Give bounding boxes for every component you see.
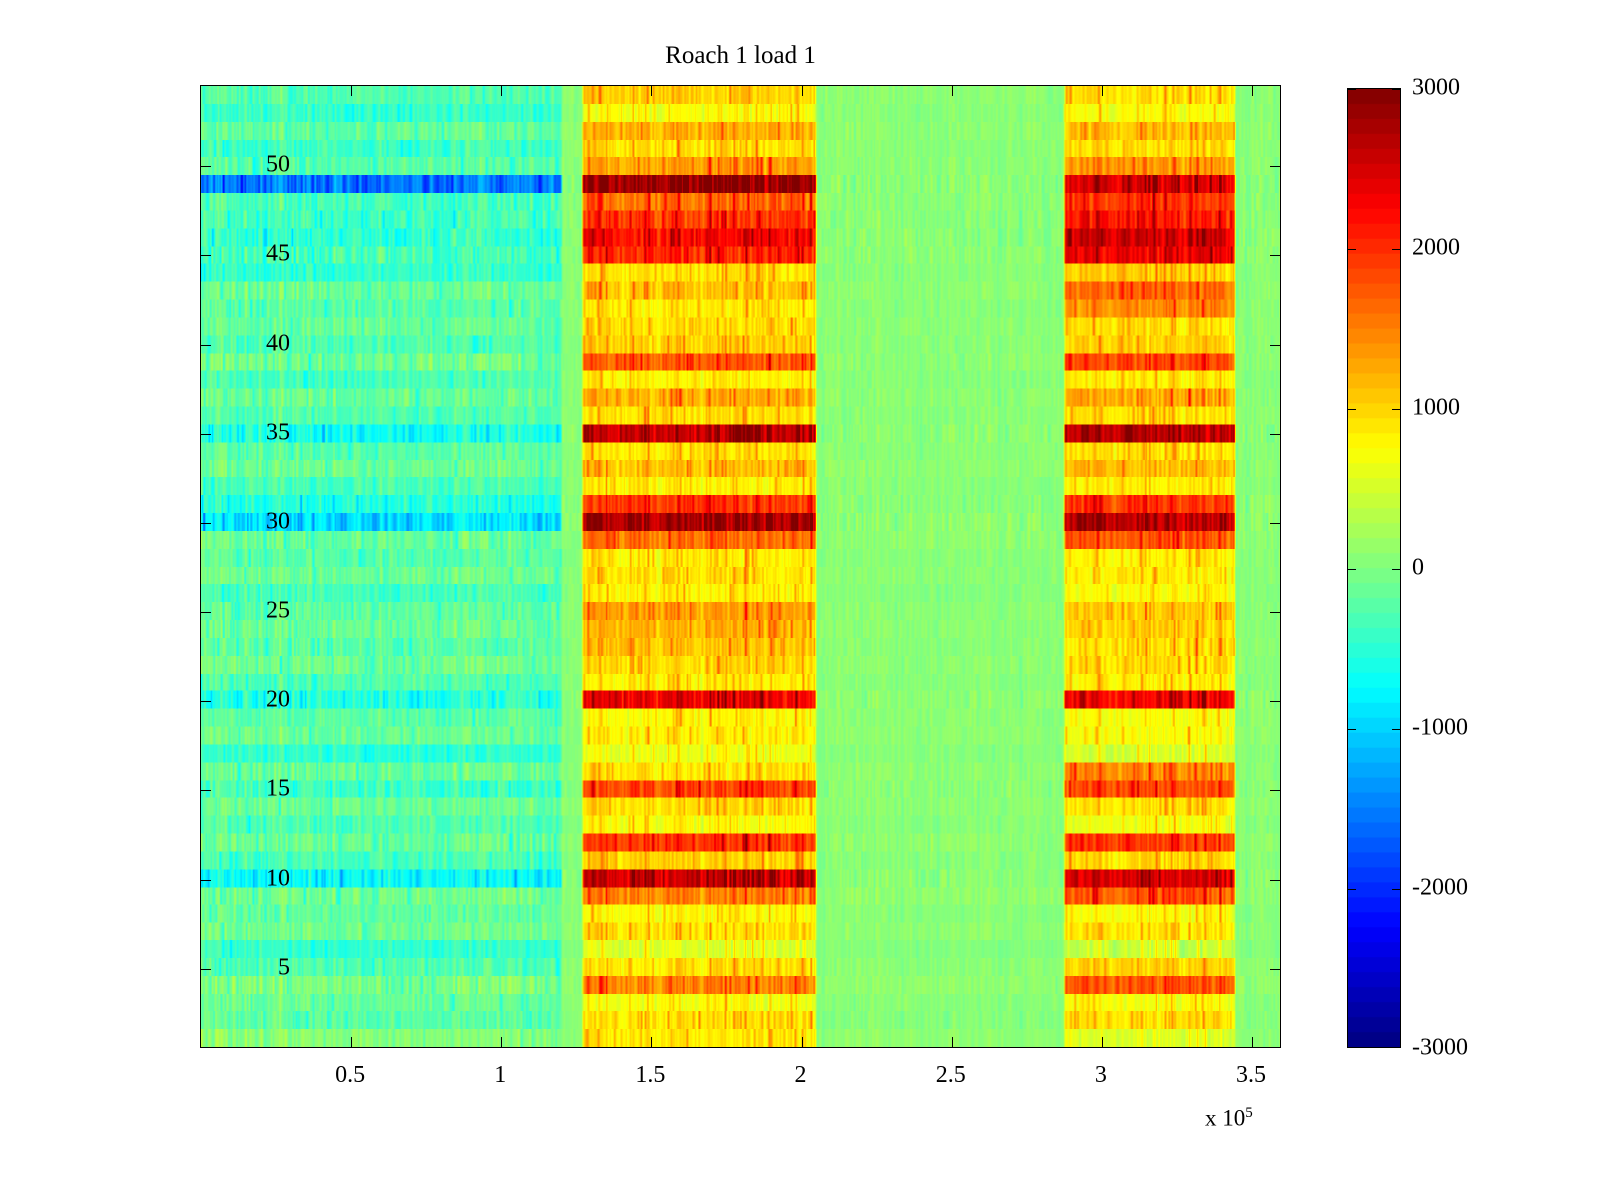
colorbar-tick-mark (1347, 409, 1356, 410)
y-tick-label: 35 (266, 419, 290, 446)
colorbar-tick-mark (1347, 569, 1356, 570)
x-exponent-mantissa: x 10 (1205, 1106, 1245, 1131)
x-tick-mark-top (802, 85, 803, 96)
x-tick-label: 3 (1095, 1062, 1107, 1089)
y-tick-label: 40 (266, 330, 290, 357)
y-tick-mark-right (1270, 523, 1281, 524)
colorbar-tick-mark-right (1392, 409, 1401, 410)
x-tick-mark (952, 1037, 953, 1048)
y-tick-mark-right (1270, 434, 1281, 435)
y-tick-mark-right (1270, 969, 1281, 970)
y-tick-mark (200, 434, 211, 435)
figure-canvas: Roach 1 load 1 5101520253035404550 0.511… (0, 0, 1600, 1200)
colorbar-tick-label: -2000 (1412, 875, 1468, 902)
y-tick-mark (200, 790, 211, 791)
heatmap-image (201, 86, 1280, 1047)
colorbar-tick-mark-right (1392, 889, 1401, 890)
y-tick-label: 30 (266, 508, 290, 535)
y-tick-label: 45 (266, 241, 290, 268)
colorbar-tick-label: 2000 (1412, 235, 1460, 262)
x-tick-mark-top (651, 85, 652, 96)
y-tick-mark (200, 701, 211, 702)
colorbar[interactable] (1347, 88, 1401, 1048)
colorbar-gradient (1348, 89, 1400, 1047)
colorbar-tick-mark (1347, 89, 1356, 90)
x-tick-mark-top (501, 85, 502, 96)
y-tick-mark (200, 523, 211, 524)
y-tick-mark-right (1270, 880, 1281, 881)
colorbar-tick-mark-right (1392, 569, 1401, 570)
colorbar-tick-mark-right (1392, 729, 1401, 730)
y-tick-mark-right (1270, 612, 1281, 613)
colorbar-tick-mark (1347, 889, 1356, 890)
y-tick-mark (200, 255, 211, 256)
colorbar-tick-mark (1347, 249, 1356, 250)
colorbar-tick-label: 1000 (1412, 395, 1460, 422)
colorbar-tick-mark (1347, 729, 1356, 730)
y-tick-label: 50 (266, 152, 290, 179)
x-tick-mark-top (1102, 85, 1103, 96)
y-tick-mark (200, 612, 211, 613)
x-tick-mark (651, 1037, 652, 1048)
colorbar-tick-mark-right (1392, 89, 1401, 90)
y-tick-mark (200, 880, 211, 881)
y-tick-label: 25 (266, 598, 290, 625)
x-tick-mark-top (1252, 85, 1253, 96)
y-tick-mark-right (1270, 701, 1281, 702)
x-tick-mark (351, 1037, 352, 1048)
x-tick-mark-top (952, 85, 953, 96)
x-exponent-power: 5 (1245, 1105, 1253, 1121)
x-tick-label: 3.5 (1236, 1062, 1266, 1089)
colorbar-tick-mark-right (1392, 249, 1401, 250)
x-tick-mark (501, 1037, 502, 1048)
y-tick-mark (200, 345, 211, 346)
y-tick-label: 10 (266, 865, 290, 892)
y-tick-mark-right (1270, 345, 1281, 346)
x-tick-mark (1102, 1037, 1103, 1048)
x-tick-label: 1.5 (635, 1062, 665, 1089)
y-tick-label: 20 (266, 687, 290, 714)
x-tick-label: 2.5 (936, 1062, 966, 1089)
heatmap-axes[interactable] (200, 85, 1281, 1048)
y-tick-mark-right (1270, 166, 1281, 167)
x-tick-mark (802, 1037, 803, 1048)
colorbar-tick-label: -1000 (1412, 715, 1468, 742)
x-tick-label: 2 (795, 1062, 807, 1089)
colorbar-tick-label: -3000 (1412, 1035, 1468, 1062)
page-title: Roach 1 load 1 (200, 42, 1281, 70)
x-tick-mark-top (351, 85, 352, 96)
x-tick-label: 1 (494, 1062, 506, 1089)
y-tick-mark-right (1270, 790, 1281, 791)
y-tick-mark (200, 969, 211, 970)
colorbar-tick-label: 0 (1412, 555, 1424, 582)
colorbar-tick-label: 3000 (1412, 75, 1460, 102)
x-tick-label: 0.5 (335, 1062, 365, 1089)
y-tick-mark (200, 166, 211, 167)
x-tick-mark (1252, 1037, 1253, 1048)
y-tick-mark-right (1270, 255, 1281, 256)
x-axis-exponent-label: x 105 (1205, 1105, 1253, 1132)
y-tick-label: 15 (266, 776, 290, 803)
y-tick-label: 5 (278, 954, 290, 981)
